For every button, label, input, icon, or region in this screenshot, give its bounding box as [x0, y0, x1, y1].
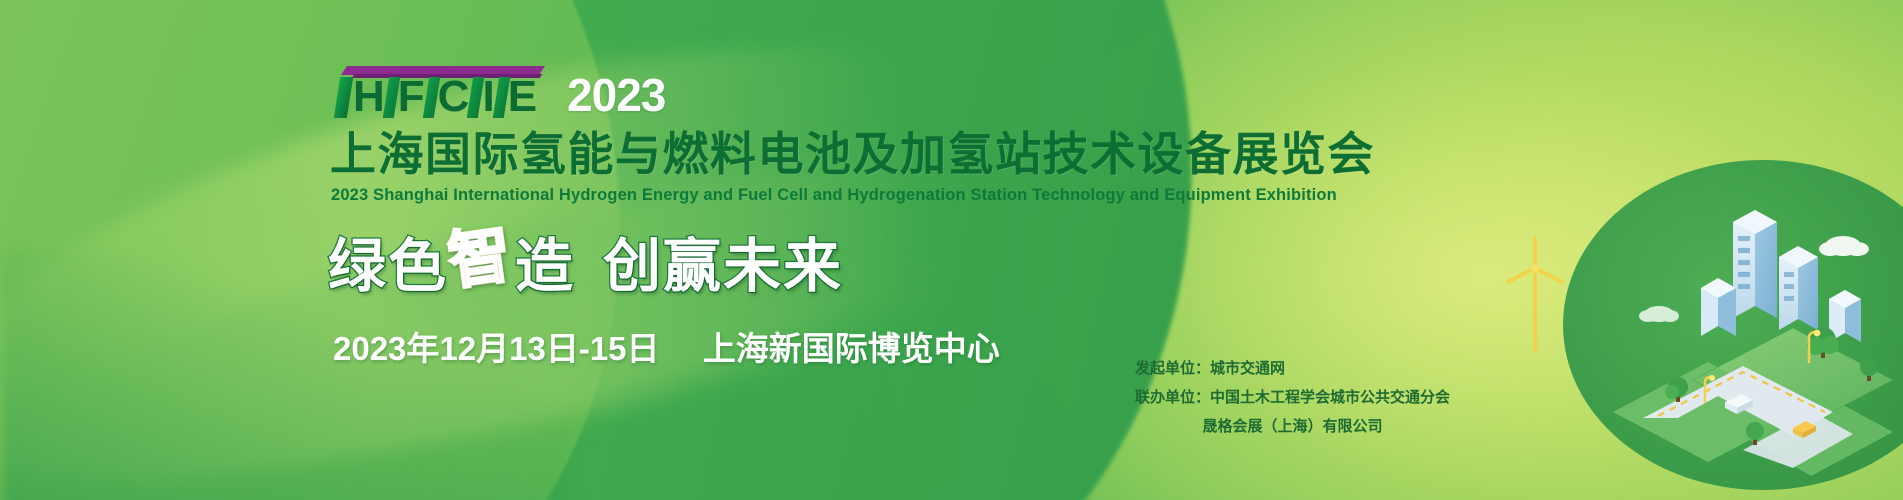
logo-letter-f: F	[398, 77, 425, 117]
logo-letters: H F C I E	[336, 77, 537, 118]
page-subtitle-english: 2023 Shanghai International Hydrogen Ene…	[331, 186, 1337, 205]
slogan-highlight-zhi: 智	[445, 224, 515, 294]
date-venue-line: 2023年12月13日-15日 上海新国际博览中心	[333, 322, 1000, 370]
banner-content: H F C I E 2023 上海国际氢能与燃料电池及加氢站技术设备展览会 20…	[0, 0, 1903, 500]
organizer-line-1: 发起单位：城市交通网	[1135, 354, 1450, 383]
slogan-part-3: 创赢未来	[603, 236, 843, 298]
organizer-line-3: 晟格会展（上海）有限公司	[1135, 412, 1450, 441]
logo-slab-left	[334, 77, 353, 118]
page-title: 上海国际氢能与燃料电池及加氢站技术设备展览会	[330, 128, 1375, 180]
logo-row: H F C I E 2023	[336, 66, 665, 118]
exhibition-banner: H F C I E 2023 上海国际氢能与燃料电池及加氢站技术设备展览会 20…	[0, 0, 1903, 500]
city-svg	[1493, 150, 1903, 500]
slogan-part-1: 绿色	[328, 236, 448, 298]
wind-turbine-icon	[1508, 238, 1562, 352]
event-date: 2023年12月13日-15日	[333, 330, 660, 367]
hfcie-logo: H F C I E	[336, 66, 537, 118]
logo-letter-c: C	[438, 77, 470, 117]
logo-year: 2023	[567, 73, 665, 117]
slogan-part-2: 造	[515, 236, 575, 298]
organizers-block: 发起单位：城市交通网 联办单位：中国土木工程学会城市公共交通分会 晟格会展（上海…	[1135, 354, 1450, 441]
event-venue: 上海新国际博览中心	[703, 330, 1000, 367]
organizer-line-2: 联办单位：中国土木工程学会城市公共交通分会	[1135, 383, 1450, 412]
logo-letter-e: E	[508, 77, 537, 117]
logo-letter-h: H	[353, 77, 385, 117]
isometric-city-illustration	[1493, 150, 1903, 500]
city-buildings	[1701, 210, 1861, 342]
slogan: 绿色 智 造 创赢未来	[328, 236, 843, 298]
